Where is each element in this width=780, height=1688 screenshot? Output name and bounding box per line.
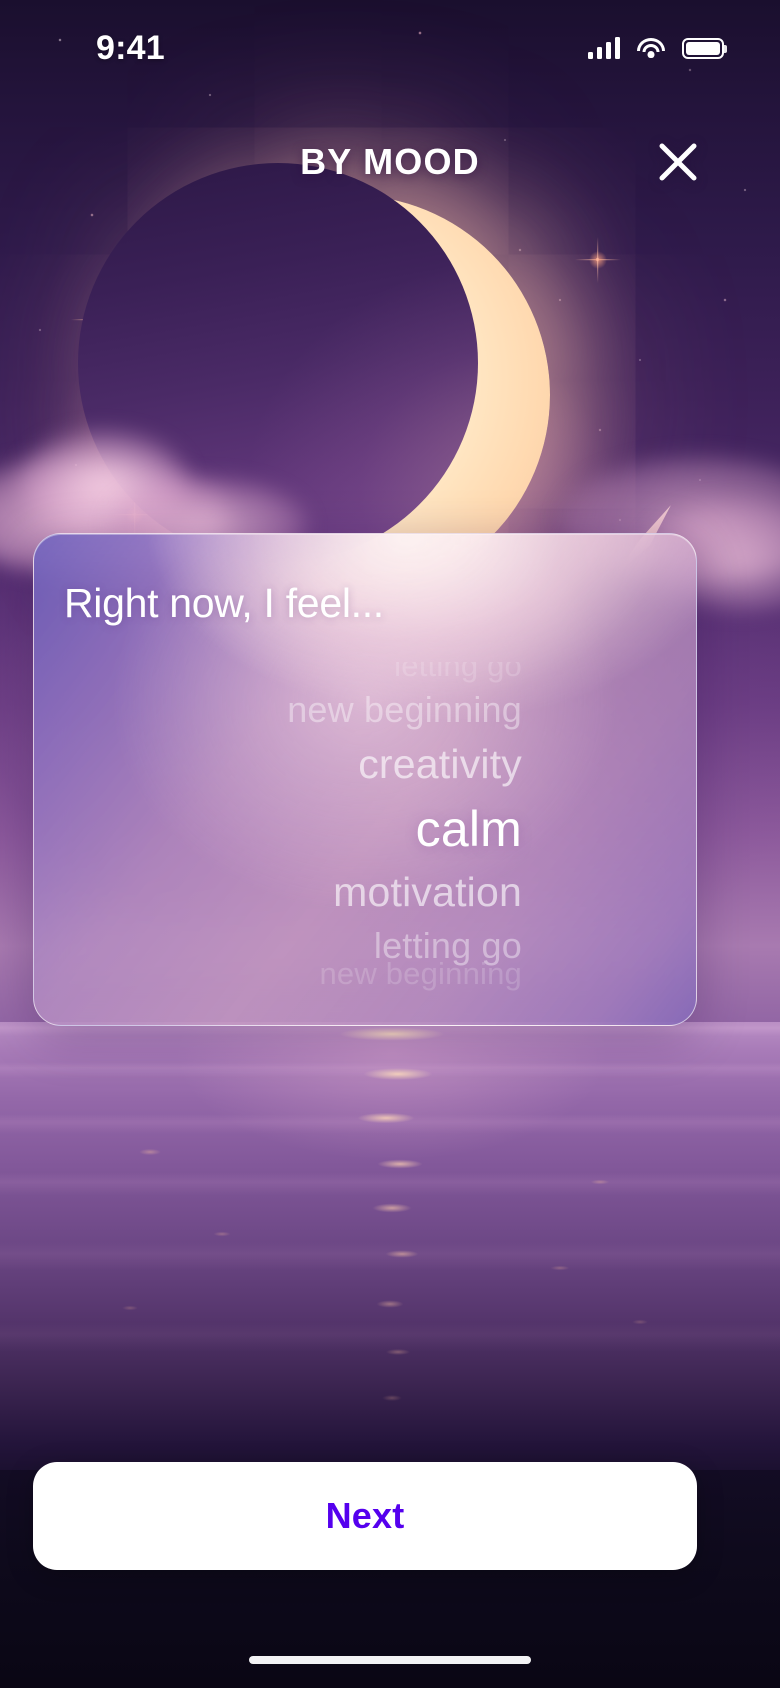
close-x-icon[interactable] xyxy=(650,134,706,190)
picker-option[interactable]: creativity xyxy=(358,744,522,792)
mood-selection-card: Right now, I feel... letting go new begi… xyxy=(33,533,697,1026)
water-reflection xyxy=(0,1022,780,1502)
status-icons xyxy=(588,37,725,59)
mood-picker-wheel[interactable]: letting go new beginning creativity calm… xyxy=(34,662,696,1026)
status-bar: 9:41 xyxy=(0,0,780,96)
next-button-label: Next xyxy=(326,1495,405,1537)
home-indicator[interactable] xyxy=(249,1656,531,1664)
water-moon-glints xyxy=(0,1022,780,1502)
picker-option[interactable]: motivation xyxy=(333,872,522,920)
cellular-signal-icon xyxy=(588,37,621,59)
next-button[interactable]: Next xyxy=(33,1462,697,1570)
battery-full-icon xyxy=(682,38,724,59)
screen-header: BY MOOD xyxy=(0,126,780,198)
picker-option[interactable]: new beginning xyxy=(287,692,522,734)
status-time: 9:41 xyxy=(96,29,165,68)
picker-option-selected[interactable]: calm xyxy=(416,804,522,862)
card-heading: Right now, I feel... xyxy=(64,580,384,627)
picker-option[interactable]: new beginning xyxy=(319,958,522,992)
picker-option[interactable]: letting go xyxy=(394,662,522,684)
wifi-icon xyxy=(636,37,666,59)
app-screen: 9:41 BY MOOD Right now, I feel... lettin… xyxy=(0,0,780,1688)
